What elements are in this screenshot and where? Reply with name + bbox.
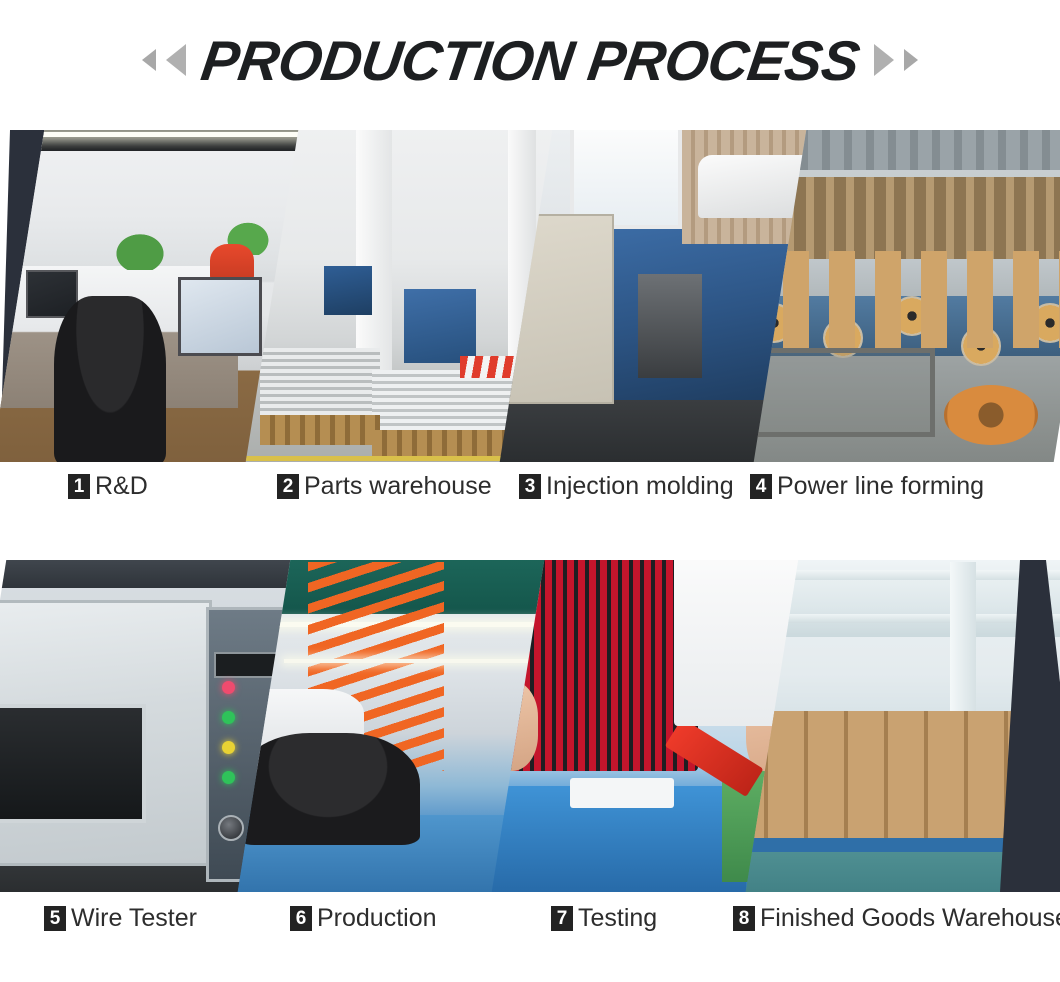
panel-stack-1 [260, 348, 380, 415]
step-label-text: Injection molding [546, 472, 734, 501]
process-label-1: 1 R&D [68, 472, 148, 501]
process-label-8: 8 Finished Goods Warehouse [733, 904, 1060, 933]
step-number-badge: 4 [750, 474, 772, 499]
page-header: PRODUCTION PROCESS [0, 0, 1060, 120]
step-number-badge: 5 [44, 906, 66, 931]
right-arrow-group [874, 44, 918, 76]
ceiling-light [0, 132, 310, 137]
photo-power-line-forming [754, 130, 1060, 462]
step-number-badge: 3 [519, 474, 541, 499]
machine-body-blue [754, 296, 1060, 356]
white-product-parts [570, 778, 674, 808]
wire-spool [961, 326, 1001, 366]
machine-core [638, 274, 702, 378]
step-label-text: Parts warehouse [304, 472, 492, 501]
step-label-text: Power line forming [777, 472, 984, 501]
support-column [950, 562, 976, 822]
process-label-2: 2 Parts warehouse [277, 472, 492, 501]
orange-coiled-cables [308, 562, 444, 770]
metal-crate [754, 348, 935, 437]
monitor-main [178, 277, 262, 355]
process-labels-row-1: 1 R&D 2 Parts warehouse 3 Injection mold… [0, 472, 1060, 520]
step-label-text: R&D [95, 472, 148, 501]
arrow-left-large-icon [166, 44, 186, 76]
process-image-4[interactable] [754, 130, 1060, 462]
wooden-pallet-1 [260, 415, 380, 445]
step-number-badge: 2 [277, 474, 299, 499]
wire-spool [892, 296, 932, 336]
process-label-3: 3 Injection molding [519, 472, 734, 501]
process-label-6: 6 Production [290, 904, 437, 933]
step-label-text: Production [317, 904, 437, 933]
arrow-right-large-icon [874, 44, 894, 76]
step-number-badge: 7 [551, 906, 573, 931]
ceiling-light-strip [284, 659, 560, 663]
process-row-1 [0, 130, 1060, 462]
process-row-2 [0, 560, 1060, 892]
step-label-text: Testing [578, 904, 657, 933]
process-label-7: 7 Testing [551, 904, 657, 933]
arrow-right-small-icon [904, 49, 918, 71]
step-number-badge: 8 [733, 906, 755, 931]
step-number-badge: 1 [68, 474, 90, 499]
blue-bin-3 [324, 266, 372, 314]
blue-bin-1 [404, 289, 476, 363]
copper-wire-coil [944, 385, 1039, 445]
machine-top-hood [0, 560, 296, 588]
plant-left [110, 229, 170, 270]
step-label-text: Finished Goods Warehouse [760, 904, 1060, 933]
arrow-left-small-icon [142, 49, 156, 71]
process-labels-row-2: 5 Wire Tester 6 Production 7 Testing 8 F… [0, 904, 1060, 952]
ceiling-beam-2 [746, 614, 1060, 623]
panel-stack-2 [372, 370, 524, 430]
process-label-4: 4 Power line forming [750, 472, 984, 501]
step-number-badge: 6 [290, 906, 312, 931]
page-title: PRODUCTION PROCESS [197, 28, 863, 93]
monitor-secondary [26, 270, 78, 318]
factory-window [570, 130, 682, 229]
braiding-rack [754, 177, 1060, 259]
left-arrow-group [142, 44, 186, 76]
step-label-text: Wire Tester [71, 904, 197, 933]
indicator-led-green [222, 771, 235, 784]
process-label-5: 5 Wire Tester [44, 904, 197, 933]
wire-spool [1030, 303, 1060, 343]
